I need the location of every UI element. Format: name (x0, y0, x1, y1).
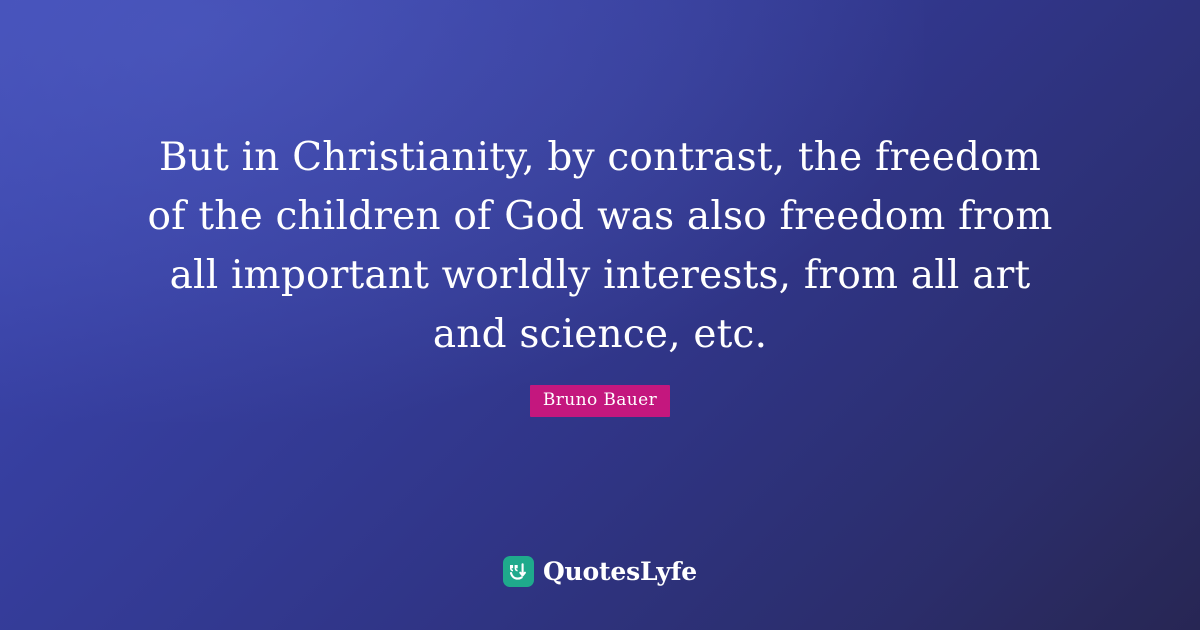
quote-line-4: and science, etc. (105, 305, 1095, 364)
quote-card: But in Christianity, by contrast, the fr… (0, 0, 1200, 630)
quote-line-1: But in Christianity, by contrast, the fr… (105, 128, 1095, 187)
quotes-smiley-logo-icon (503, 556, 534, 587)
quote-text: But in Christianity, by contrast, the fr… (105, 128, 1095, 364)
author-badge[interactable]: Bruno Bauer (530, 385, 670, 417)
quote-card-content: But in Christianity, by contrast, the fr… (0, 0, 1200, 630)
author-row: Bruno Bauer (0, 385, 1200, 417)
brand-name: QuotesLyfe (543, 559, 697, 584)
brand-logo[interactable]: QuotesLyfe (0, 556, 1200, 587)
quote-line-2: of the children of God was also freedom … (105, 187, 1095, 246)
quote-block: But in Christianity, by contrast, the fr… (0, 128, 1200, 364)
quote-line-3: all important worldly interests, from al… (105, 246, 1095, 305)
